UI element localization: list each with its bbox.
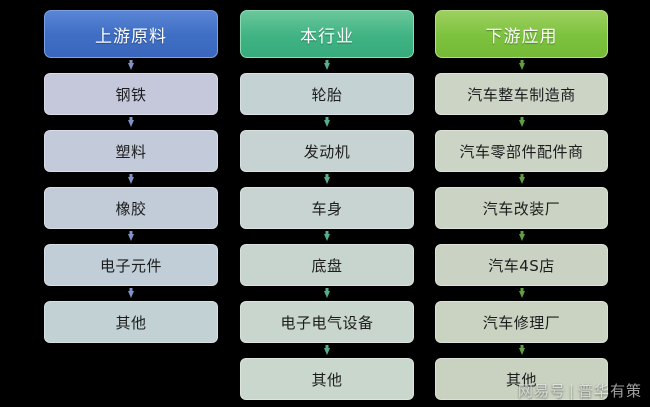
node-downstream-4[interactable]: 汽车修理厂: [435, 301, 608, 343]
connector-industry-4: [240, 286, 414, 301]
node-downstream-0[interactable]: 汽车整车制造商: [435, 73, 608, 115]
arrow-down-icon: [519, 234, 524, 239]
connector-downstream-0: [435, 58, 608, 73]
arrow-down-icon: [519, 120, 524, 125]
node-industry-3[interactable]: 底盘: [240, 244, 414, 286]
industry-chain-diagram: 上游原料 钢铁 塑料 橡胶 电子元件 其他 本行业 轮胎 发动机: [0, 0, 650, 407]
arrow-down-icon: [129, 120, 134, 125]
column-industry: 本行业 轮胎 发动机 车身 底盘 电子电气设备 其他: [240, 10, 414, 400]
arrow-down-icon: [325, 348, 330, 353]
arrow-down-icon: [129, 234, 134, 239]
arrow-down-icon: [325, 291, 330, 296]
connector-downstream-4: [435, 286, 608, 301]
connector-downstream-2: [435, 172, 608, 187]
node-upstream-2[interactable]: 橡胶: [44, 187, 218, 229]
arrow-down-icon: [325, 234, 330, 239]
node-upstream-0[interactable]: 钢铁: [44, 73, 218, 115]
node-upstream-1[interactable]: 塑料: [44, 130, 218, 172]
node-downstream-5[interactable]: 其他: [435, 358, 608, 400]
arrow-down-icon: [129, 63, 134, 68]
connector-upstream-0: [44, 58, 218, 73]
node-upstream-3[interactable]: 电子元件: [44, 244, 218, 286]
arrow-down-icon: [325, 63, 330, 68]
connector-upstream-4: [44, 286, 218, 301]
column-header-industry[interactable]: 本行业: [240, 10, 414, 58]
connector-upstream-1: [44, 115, 218, 130]
connector-downstream-3: [435, 229, 608, 244]
node-downstream-2[interactable]: 汽车改装厂: [435, 187, 608, 229]
column-header-upstream[interactable]: 上游原料: [44, 10, 218, 58]
arrow-down-icon: [129, 291, 134, 296]
arrow-down-icon: [519, 177, 524, 182]
node-industry-0[interactable]: 轮胎: [240, 73, 414, 115]
connector-industry-3: [240, 229, 414, 244]
arrow-down-icon: [519, 348, 524, 353]
arrow-down-icon: [519, 63, 524, 68]
arrow-down-icon: [129, 177, 134, 182]
connector-industry-5: [240, 343, 414, 358]
connector-industry-2: [240, 172, 414, 187]
arrow-down-icon: [325, 177, 330, 182]
column-downstream: 下游应用 汽车整车制造商 汽车零部件配件商 汽车改装厂 汽车4S店 汽车修理厂 …: [435, 10, 608, 400]
node-industry-2[interactable]: 车身: [240, 187, 414, 229]
column-upstream: 上游原料 钢铁 塑料 橡胶 电子元件 其他: [44, 10, 218, 343]
connector-upstream-2: [44, 172, 218, 187]
node-industry-1[interactable]: 发动机: [240, 130, 414, 172]
node-industry-4[interactable]: 电子电气设备: [240, 301, 414, 343]
connector-industry-0: [240, 58, 414, 73]
arrow-down-icon: [325, 120, 330, 125]
arrow-down-icon: [519, 291, 524, 296]
connector-upstream-3: [44, 229, 218, 244]
node-downstream-3[interactable]: 汽车4S店: [435, 244, 608, 286]
connector-downstream-5: [435, 343, 608, 358]
connector-industry-1: [240, 115, 414, 130]
column-header-downstream[interactable]: 下游应用: [435, 10, 608, 58]
node-upstream-4[interactable]: 其他: [44, 301, 218, 343]
node-downstream-1[interactable]: 汽车零部件配件商: [435, 130, 608, 172]
connector-downstream-1: [435, 115, 608, 130]
node-industry-5[interactable]: 其他: [240, 358, 414, 400]
